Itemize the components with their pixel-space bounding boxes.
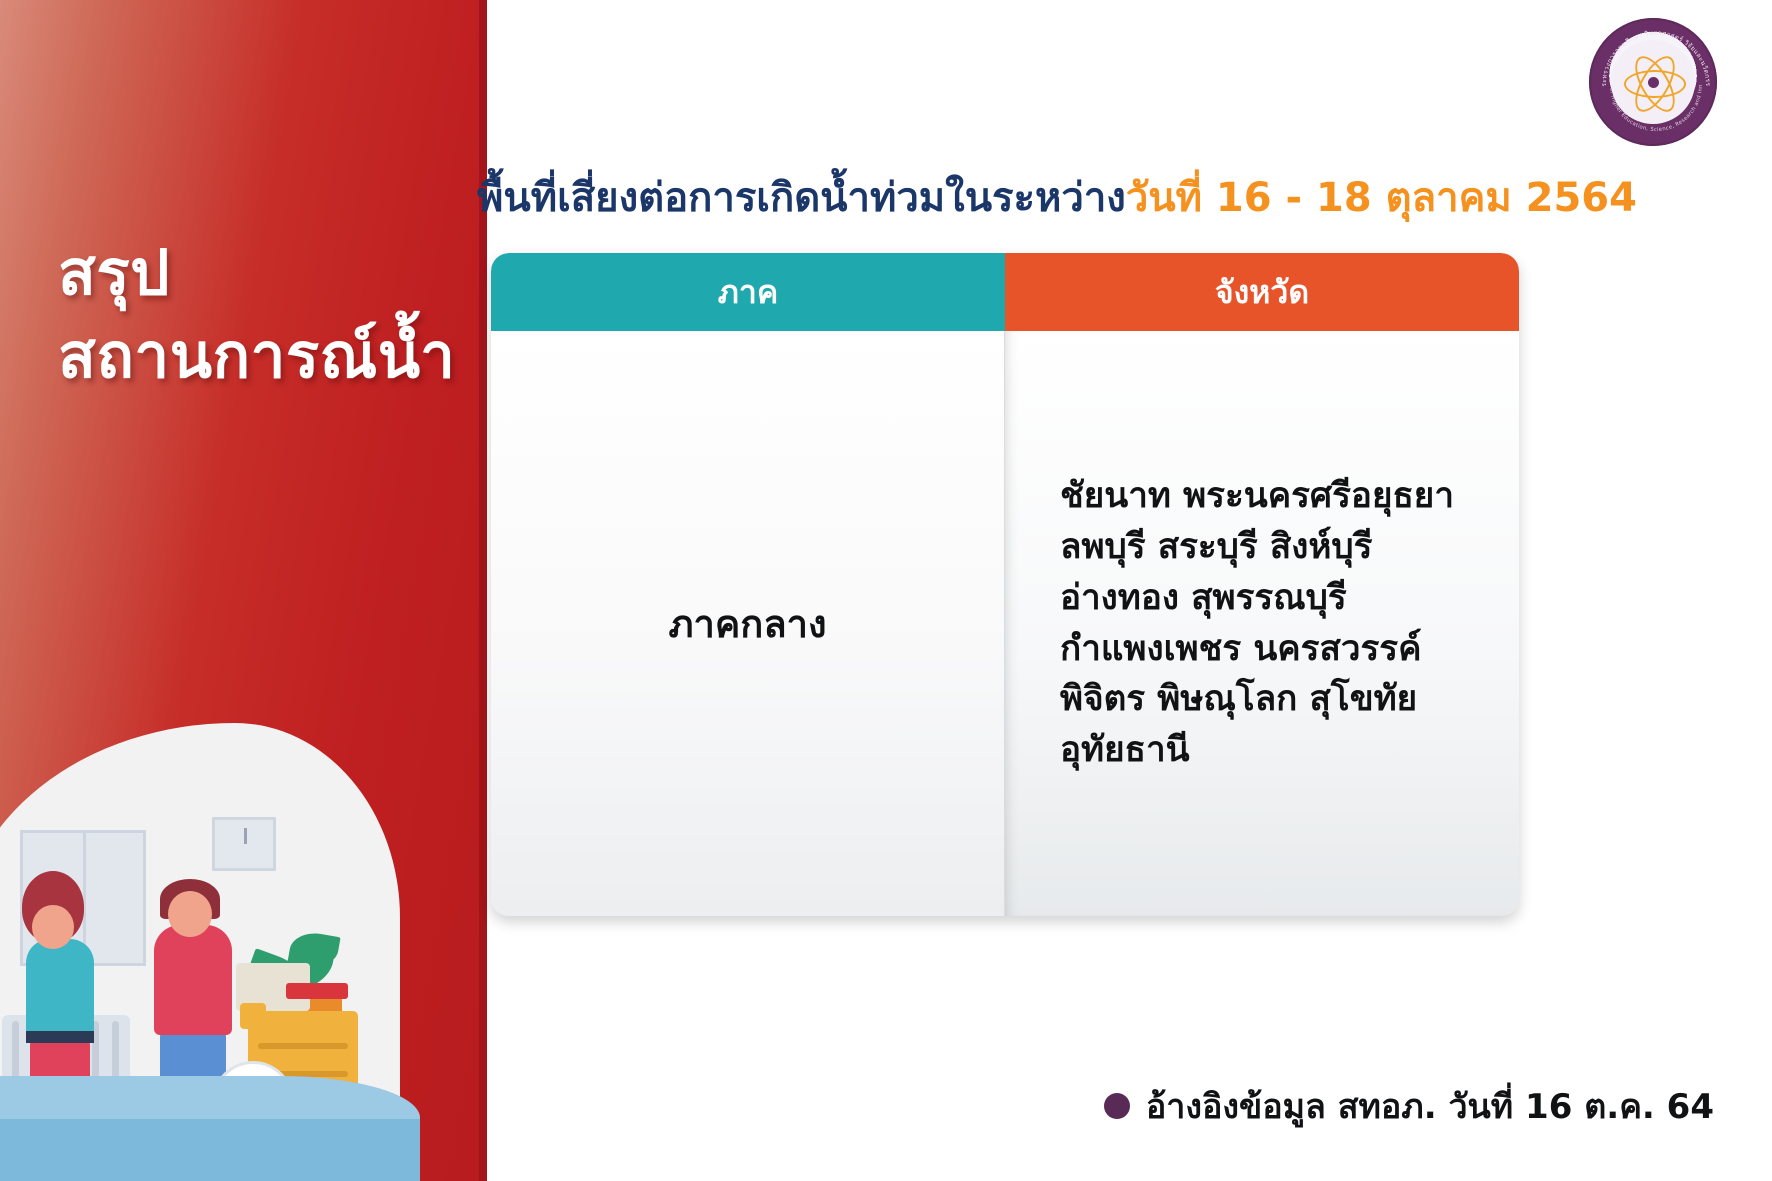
cell-region: ภาคกลาง (491, 331, 1005, 916)
person-woman-body (26, 939, 94, 1041)
source-footer: อ้างอิงข้อมูล สทอภ. วันที่ 16 ต.ค. 64 (1104, 1079, 1714, 1133)
person-woman-head (32, 905, 74, 949)
source-text: อ้างอิงข้อมูล สทอภ. วันที่ 16 ต.ค. 64 (1146, 1079, 1714, 1133)
floodwater-shape-deep (0, 1119, 420, 1181)
small-box-icon (240, 1003, 266, 1029)
panel-title: สรุป สถานการณ์น้ำ (58, 148, 455, 480)
headline-prefix: พื้นที่เสี่ยงต่อการเกิดน้ำท่วมในระหว่าง (477, 175, 1126, 221)
emblem-center (1611, 40, 1695, 124)
table-row: ภาคกลาง ชัยนาท พระนครศรีอยุธยา ลพบุรี สร… (491, 331, 1519, 916)
page-title: พื้นที่เสี่ยงต่อการเกิดน้ำท่วมในระหว่างว… (477, 176, 1577, 220)
province-list: ชัยนาท พระนครศรีอยุธยา ลพบุรี สระบุรี สิ… (1060, 471, 1454, 776)
person-man-head (168, 891, 212, 937)
table-header-row: ภาค จังหวัด (491, 253, 1519, 331)
wall-clock-icon (212, 817, 276, 871)
region-label: ภาคกลาง (669, 593, 827, 654)
bullet-dot-icon (1104, 1093, 1130, 1119)
person-man-body (154, 925, 232, 1035)
infographic-canvas: สรุป สถานการณ์น้ำ (0, 0, 1772, 1181)
column-header-province: จังหวัด (1005, 253, 1519, 331)
red-box-icon (286, 983, 348, 999)
person-woman-belt (26, 1031, 94, 1043)
left-red-panel: สรุป สถานการณ์น้ำ (0, 0, 487, 1181)
atom-icon (1622, 51, 1684, 113)
flood-family-illustration (0, 721, 400, 1181)
risk-area-table: ภาค จังหวัด ภาคกลาง ชัยนาท พระนครศรีอยุธ… (491, 253, 1519, 916)
column-header-region: ภาค (491, 253, 1005, 331)
cell-provinces: ชัยนาท พระนครศรีอยุธยา ลพบุรี สระบุรี สิ… (1005, 331, 1519, 916)
panel-title-line1: สรุป (58, 236, 170, 309)
mhesi-emblem-logo: กระทรวงการอุดมศึกษา วิทยาศาสตร์ วิจัยและ… (1589, 18, 1717, 146)
panel-title-line2: สถานการณ์น้ำ (58, 314, 455, 397)
right-content-area: กระทรวงการอุดมศึกษา วิทยาศาสตร์ วิจัยและ… (487, 0, 1772, 1181)
headline-date-range: วันที่ 16 - 18 ตุลาคม 2564 (1126, 175, 1637, 221)
